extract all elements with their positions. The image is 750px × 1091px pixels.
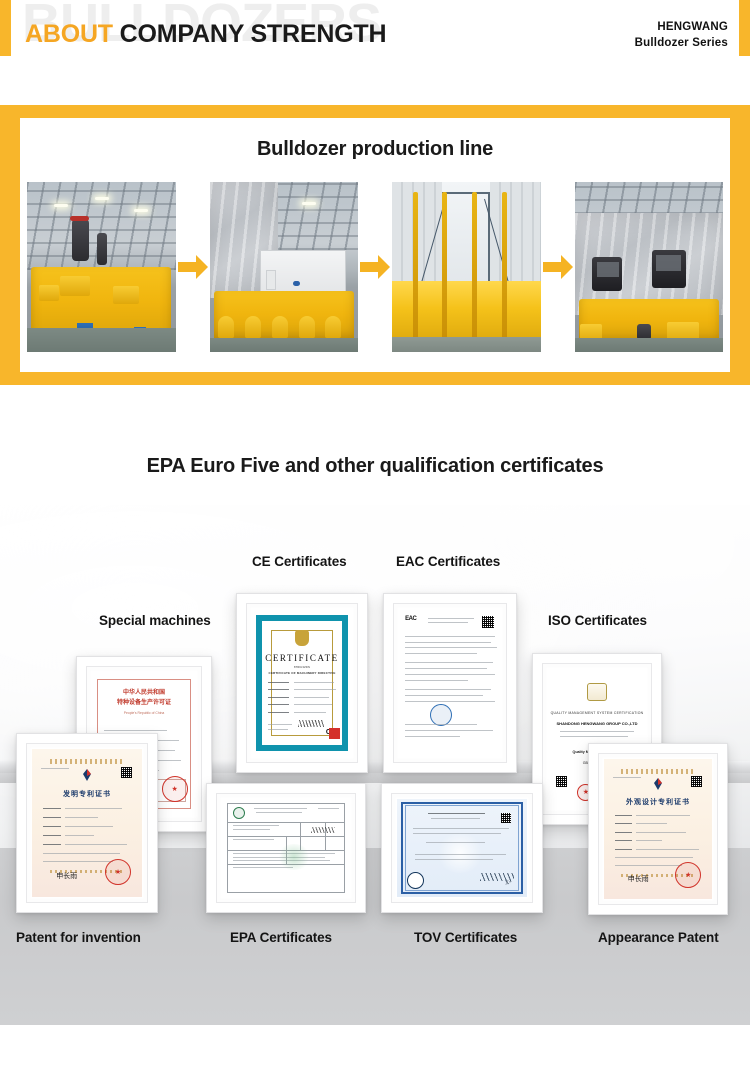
patent-emblem-icon [79,768,95,782]
arrow-right-icon [541,250,575,284]
page-title-accent: ABOUT [25,20,113,48]
header-accent-bar-left [0,0,11,56]
doc-subtitle-cn: 特种设备生产许可证 [92,699,196,708]
certificate-label-tov: TOV Certificates [414,930,517,945]
about-company-strength-page: BULLDOZERS ABOUT COMPANY STRENGTH HENGWA… [0,0,750,1091]
frame-mat: 外观设计专利证书 申长雨 [598,753,718,905]
frame-mat: EAC [393,603,507,763]
page-title-rest: COMPANY STRENGTH [120,20,387,48]
certificates-stage: 中华人民共和国 特种设备生产许可证 People's Republic of C… [0,505,750,1025]
certificate-label-appearance-patent: Appearance Patent [598,930,719,945]
arrow-right-icon [176,250,210,284]
qr-code-icon [501,813,511,823]
qr-code-icon [556,776,567,787]
certificate-frame-epa[interactable] [206,783,366,913]
cn-appearance-patent-doc: 外观设计专利证书 申长雨 [604,759,712,899]
certificate-label-special-machines: Special machines [99,613,211,628]
arrow-right-icon [358,250,392,284]
certificate-label-iso: ISO Certificates [548,613,647,628]
eac-certificate-doc: EAC [399,609,501,757]
iso-crest-icon [587,683,607,701]
production-step-image-1 [27,182,176,352]
brand-block: HENGWANG Bulldozer Series [635,20,728,51]
certificate-label-epa: EPA Certificates [230,930,332,945]
doc-title-cn: 外观设计专利证书 [604,797,712,807]
certificate-frame-patent-invention[interactable]: 发明专利证书 申长雨 [16,733,158,913]
production-line-panel: Bulldozer production line [0,105,750,385]
brand-name: HENGWANG [635,20,728,36]
ce-certificate-doc: CERTIFICATE 8TRD/4ZDN CERTIFICATE OF MAC… [252,609,352,757]
doc-subtitle-en: People's Republic of China [92,711,196,715]
certificate-label-patent-invention: Patent for invention [16,930,141,945]
brand-series: Bulldozer Series [635,36,728,52]
frame-mat: CERTIFICATE 8TRD/4ZDN CERTIFICATE OF MAC… [246,603,358,763]
production-step-image-2 [210,182,359,352]
production-line-strip [27,182,723,352]
certificate-label-eac: EAC Certificates [396,554,500,569]
certificate-frame-ce[interactable]: CERTIFICATE 8TRD/4ZDN CERTIFICATE OF MAC… [236,593,368,773]
production-step-image-3 [392,182,541,352]
production-step-image-4 [575,182,724,352]
page-title: ABOUT COMPANY STRENGTH [25,21,386,49]
eac-logo: EAC [405,616,416,622]
certificate-frame-tov[interactable]: x‐ [381,783,543,913]
ce-doc-sub1: 8TRD/4ZDN [262,666,342,669]
page-header: BULLDOZERS ABOUT COMPANY STRENGTH HENGWA… [0,0,750,60]
certificate-frame-eac[interactable]: EAC [383,593,517,773]
certificate-frame-appearance-patent[interactable]: 外观设计专利证书 申长雨 [588,743,728,915]
production-line-title: Bulldozer production line [20,138,730,161]
cn-invention-patent-doc: 发明专利证书 申长雨 [32,749,142,897]
qr-code-icon [691,776,702,787]
doc-title-cn: 发明专利证书 [32,789,142,799]
tov-certificate-doc: x‐ [397,799,527,897]
doc-signature: 申长雨 [628,874,649,884]
certificates-heading: EPA Euro Five and other qualification ce… [0,455,750,478]
frame-mat: x‐ [391,793,533,903]
ce-doc-sub2: CERTIFICATE OF MACHINERY DIRECTIVE [262,671,342,675]
header-accent-bar-right [739,0,750,56]
epa-watermark [277,844,311,870]
ce-doc-title: CERTIFICATE [262,653,342,663]
eac-blue-stamp [430,704,452,726]
frame-mat [216,793,356,903]
epa-certificate-doc [222,799,350,897]
patent-emblem-icon [650,777,666,791]
doc-title-cn: 中华人民共和国 [92,689,196,698]
qr-code-icon [482,616,494,628]
doc-signature: 申长雨 [56,871,77,881]
ce-crest-icon [295,630,309,646]
iso-line2: SHANDONG HENGWANG GROUP CO.,LTD [548,721,646,726]
epa-seal-icon [233,807,245,819]
iso-line1: QUALITY MANAGEMENT SYSTEM CERTIFICATION [548,711,646,715]
qr-code-icon [121,767,132,778]
certificate-label-ce: CE Certificates [252,554,347,569]
frame-mat: 发明专利证书 申长雨 [26,743,148,903]
production-line-inner: Bulldozer production line [20,118,730,372]
ce-red-badge [329,728,340,739]
